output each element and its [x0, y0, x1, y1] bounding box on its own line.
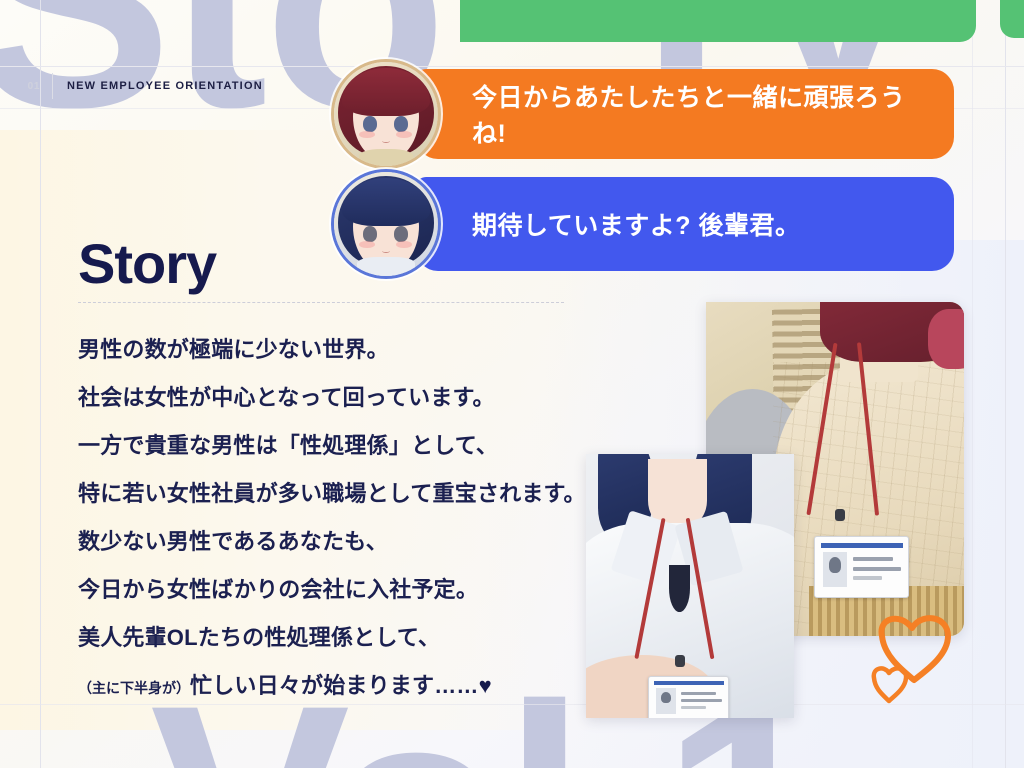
- story-line: 今日から女性ばかりの会社に入社予定。: [78, 566, 598, 614]
- column-guide-right-inner: [972, 0, 973, 768]
- speech-row-2: 期待していますよ? 後輩君。: [334, 172, 954, 276]
- story-line: 男性の数が極端に少ない世界。: [78, 326, 598, 374]
- slide-eyebrow-title: NEW EMPLOYEE ORIENTATION: [67, 80, 263, 92]
- id-badge-back-photo: [814, 536, 909, 598]
- red-haired-senpai-avatar: [334, 62, 438, 166]
- story-line: 一方で貴重な男性は「性処理係」として、: [78, 422, 598, 470]
- badge-text-line: [853, 576, 883, 580]
- story-line-last-main: 忙しい日々が始まります……: [190, 673, 479, 698]
- title-divider: [78, 302, 564, 303]
- story-line: 数少ない男性であるあなたも、: [78, 518, 598, 566]
- speech-bubble-blue: 期待していますよ? 後輩君。: [416, 177, 954, 271]
- badge-text-line: [853, 557, 894, 561]
- id-badge-front-photo: [648, 676, 729, 718]
- speech-bubble-orange-text: 今日からあたしたちと一緒に頑張ろうね!: [472, 78, 926, 150]
- lanyard-strap-right: [857, 342, 879, 515]
- badge-portrait: [656, 688, 677, 714]
- eye-left: [363, 116, 377, 132]
- heart-glyph-icon: ♥: [479, 673, 492, 698]
- badge-text-line: [853, 567, 901, 571]
- badge-header-bar: [821, 543, 903, 548]
- photo-scene-cool: [586, 454, 794, 718]
- blouse-collar: [357, 257, 415, 276]
- slide-root: Sto ry Vol.1 01 NEW EMPLOYEE ORIENTATION: [0, 0, 1024, 768]
- blush-left: [359, 131, 375, 138]
- story-line-last-prefix: （主に下半身が）: [78, 680, 190, 696]
- lanyard-clip: [835, 509, 845, 521]
- story-line: 社会は女性が中心となって回っています。: [78, 374, 598, 422]
- blush-left: [359, 241, 375, 248]
- speech-bubble-blue-text: 期待していますよ? 後輩君。: [472, 206, 800, 242]
- column-guide-left: [40, 0, 41, 768]
- badge-text-line: [681, 699, 722, 702]
- lanyard-strap-left: [635, 518, 666, 659]
- eyebrow-divider: [52, 73, 53, 99]
- badge-header-bar: [654, 681, 724, 685]
- green-accent-sliver: [1000, 0, 1024, 38]
- lanyard-strap-left: [806, 343, 837, 515]
- column-guide-right: [1005, 0, 1006, 768]
- heart-doodle-small: [868, 664, 912, 709]
- avatar-face-blue: [334, 172, 438, 276]
- avatar-face-red: [334, 62, 438, 166]
- story-line: 特に若い女性社員が多い職場として重宝されます。: [78, 470, 598, 518]
- eye-left: [363, 226, 377, 242]
- speech-bubble-orange: 今日からあたしたちと一緒に頑張ろうね!: [416, 69, 954, 159]
- slide-number: 01: [0, 81, 52, 92]
- blush-right: [396, 241, 412, 248]
- story-line: 美人先輩OLたちの性処理係として、: [78, 614, 598, 662]
- lanyard-clip: [675, 655, 685, 667]
- eye-right: [394, 226, 408, 242]
- badge-text-line: [681, 692, 716, 695]
- blue-haired-senpai-avatar: [334, 172, 438, 276]
- senpai-white-blouse-photo: [586, 454, 794, 718]
- badge-text-line: [681, 706, 706, 709]
- story-line-last: （主に下半身が）忙しい日々が始まります……♥: [78, 662, 598, 712]
- blush-right: [396, 131, 412, 138]
- lanyard-strap-right: [686, 518, 715, 659]
- eye-right: [394, 116, 408, 132]
- speech-row-1: 今日からあたしたちと一緒に頑張ろうね!: [334, 62, 954, 166]
- green-accent-block: [460, 0, 976, 42]
- story-body: 男性の数が極端に少ない世界。 社会は女性が中心となって回っています。 一方で貴重…: [78, 326, 598, 712]
- sweater-collar: [359, 149, 413, 166]
- page-title: Story: [78, 236, 216, 292]
- badge-portrait: [823, 552, 847, 587]
